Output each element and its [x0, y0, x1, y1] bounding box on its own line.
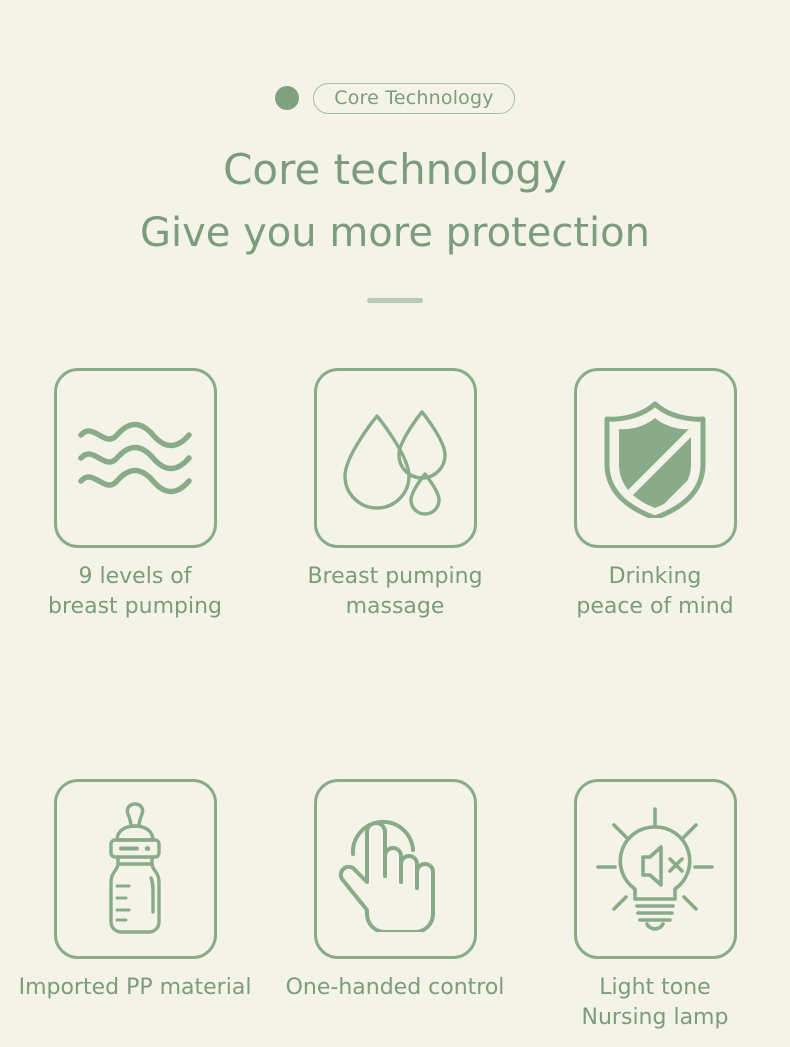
waves-icon-card: [54, 368, 217, 548]
feature-item-shield[interactable]: Drinking peace of mind: [574, 368, 737, 621]
badge-row: Core Technology: [0, 82, 790, 114]
caption-line-2: massage: [307, 592, 482, 622]
feature-item-hand[interactable]: One-handed control: [314, 779, 477, 1032]
status-dot-icon: [275, 86, 299, 110]
feature-caption: One-handed control: [286, 973, 505, 1003]
water-droplets-icon-card: [314, 368, 477, 548]
feature-grid: 9 levels of breast pumping: [0, 368, 790, 1033]
shield-icon-card: [574, 368, 737, 548]
light-bulb-mute-icon-card: [574, 779, 737, 959]
water-droplets-icon: [337, 400, 453, 516]
caption-line-2: peace of mind: [576, 592, 733, 622]
feature-caption: 9 levels of breast pumping: [48, 562, 222, 621]
feature-row-1: 9 levels of breast pumping: [0, 368, 790, 621]
shield-icon: [597, 398, 713, 518]
feature-item-waves[interactable]: 9 levels of breast pumping: [54, 368, 217, 621]
feature-caption: Imported PP material: [19, 973, 252, 1003]
feature-caption: Light tone Nursing lamp: [582, 973, 729, 1032]
page-title: Core technology: [0, 145, 790, 194]
baby-bottle-icon-card: [54, 779, 217, 959]
feature-item-droplets[interactable]: Breast pumping massage: [314, 368, 477, 621]
title-divider: [367, 298, 423, 303]
caption-line-1: One-handed control: [286, 973, 505, 1003]
caption-line-1: Breast pumping: [307, 562, 482, 592]
page-subtitle: Give you more protection: [0, 210, 790, 256]
tap-hand-icon-card: [314, 779, 477, 959]
caption-line-2: breast pumping: [48, 592, 222, 622]
light-bulb-mute-icon: [594, 805, 716, 933]
caption-line-1: 9 levels of: [48, 562, 222, 592]
feature-caption: Breast pumping massage: [307, 562, 482, 621]
feature-caption: Drinking peace of mind: [576, 562, 733, 621]
baby-bottle-icon: [85, 800, 185, 938]
feature-item-lamp[interactable]: Light tone Nursing lamp: [574, 779, 737, 1032]
caption-line-1: Light tone: [582, 973, 729, 1003]
feature-row-2: Imported PP material: [0, 779, 790, 1032]
caption-line-1: Imported PP material: [19, 973, 252, 1003]
badge-label: Core Technology: [313, 83, 514, 114]
tap-hand-icon: [337, 806, 453, 932]
waves-icon: [75, 413, 195, 503]
feature-item-bottle[interactable]: Imported PP material: [54, 779, 217, 1032]
caption-line-1: Drinking: [576, 562, 733, 592]
caption-line-2: Nursing lamp: [582, 1003, 729, 1033]
